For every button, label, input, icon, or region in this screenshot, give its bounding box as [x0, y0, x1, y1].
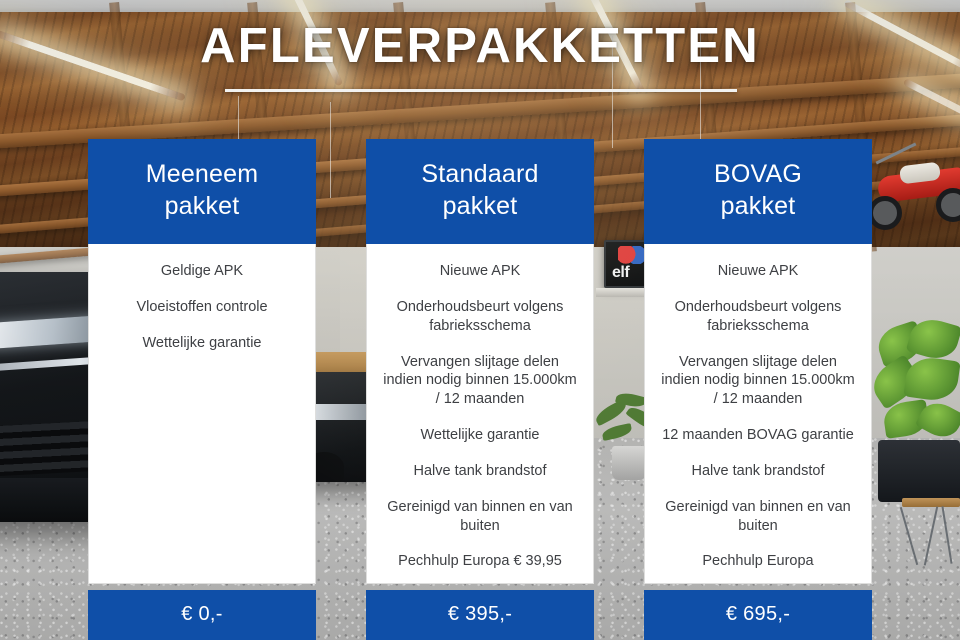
- package-feature-list: Nieuwe APK Onderhoudsbeurt volgens fabri…: [366, 244, 594, 584]
- package-title-line-2: pakket: [654, 191, 862, 223]
- package-card-bovag[interactable]: BOVAG pakket Nieuwe APK Onderhoudsbeurt …: [644, 139, 872, 640]
- package-feature-list: Nieuwe APK Onderhoudsbeurt volgens fabri…: [644, 244, 872, 584]
- package-feature: Vervangen slijtage delen indien nodig bi…: [659, 353, 857, 410]
- package-card-standaard[interactable]: Standaard pakket Nieuwe APK Onderhoudsbe…: [366, 139, 594, 640]
- package-title-line-1: Meeneem: [98, 159, 306, 191]
- package-price[interactable]: € 695,-: [644, 590, 872, 640]
- package-feature: Vloeistoffen controle: [103, 298, 301, 317]
- package-price[interactable]: € 395,-: [366, 590, 594, 640]
- package-feature: Halve tank brandstof: [381, 462, 579, 481]
- package-cards-row: Meeneem pakket Geldige APK Vloeistoffen …: [88, 139, 872, 640]
- title-divider: [225, 89, 737, 92]
- package-feature: Halve tank brandstof: [659, 462, 857, 481]
- package-feature: Vervangen slijtage delen indien nodig bi…: [381, 353, 579, 410]
- package-feature: Wettelijke garantie: [103, 334, 301, 353]
- page-title: AFLEVERPAKKETTEN: [0, 22, 960, 71]
- package-feature: Pechhulp Europa € 39,95: [381, 552, 579, 571]
- package-feature: Pechhulp Europa: [659, 552, 857, 571]
- package-feature: Geldige APK: [103, 262, 301, 281]
- page-content: AFLEVERPAKKETTEN Meeneem pakket Geldige …: [0, 0, 960, 640]
- package-feature: Wettelijke garantie: [381, 426, 579, 445]
- package-feature: 12 maanden BOVAG garantie: [659, 426, 857, 445]
- package-feature-list: Geldige APK Vloeistoffen controle Wettel…: [88, 244, 316, 584]
- package-feature: Gereinigd van binnen en van buiten: [381, 498, 579, 536]
- delivery-packages-page: elf: [0, 0, 960, 640]
- package-feature: Onderhoudsbeurt volgens fabrieksschema: [659, 298, 857, 336]
- package-card-header: Standaard pakket: [366, 139, 594, 244]
- package-feature: Nieuwe APK: [381, 262, 579, 281]
- package-feature: Nieuwe APK: [659, 262, 857, 281]
- package-card-header: Meeneem pakket: [88, 139, 316, 244]
- package-price[interactable]: € 0,-: [88, 590, 316, 640]
- package-feature: Gereinigd van binnen en van buiten: [659, 498, 857, 536]
- package-card-meeneem[interactable]: Meeneem pakket Geldige APK Vloeistoffen …: [88, 139, 316, 640]
- package-title-line-1: BOVAG: [654, 159, 862, 191]
- package-card-header: BOVAG pakket: [644, 139, 872, 244]
- package-feature: Onderhoudsbeurt volgens fabrieksschema: [381, 298, 579, 336]
- package-title-line-2: pakket: [376, 191, 584, 223]
- package-title-line-1: Standaard: [376, 159, 584, 191]
- package-title-line-2: pakket: [98, 191, 306, 223]
